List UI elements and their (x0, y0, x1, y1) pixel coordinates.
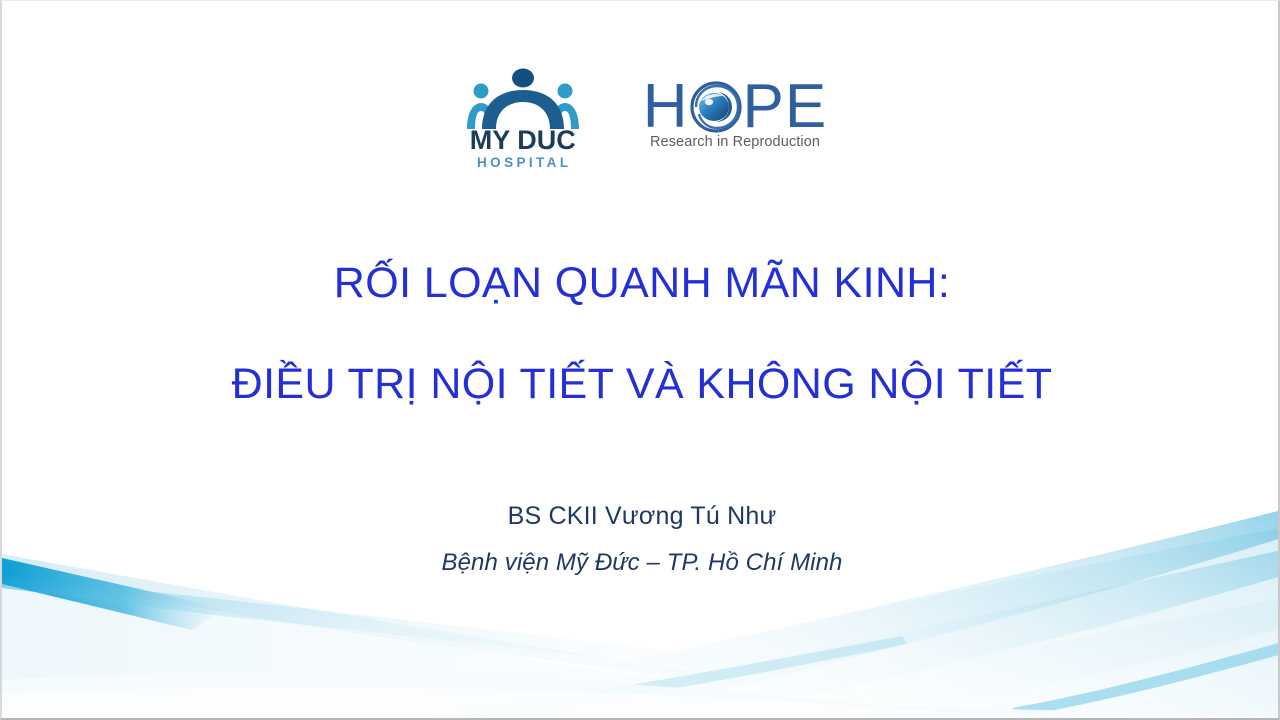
three-people-arch-icon (464, 67, 582, 129)
hope-letter-e: E (785, 82, 827, 133)
author-block: BS CKII Vương Tú Như Bệnh viện Mỹ Đức – … (2, 501, 1280, 578)
eye-swirl-icon (690, 81, 742, 133)
hope-letter-p: P (743, 82, 785, 133)
hope-wordmark: H P E (643, 81, 828, 133)
my-duc-wordmark: MY DUC (470, 127, 576, 154)
presentation-title-slide: MY DUC HOSPITAL H (0, 0, 1280, 720)
my-duc-hospital-logo: MY DUC HOSPITAL (457, 67, 589, 170)
hope-letter-h: H (643, 82, 689, 133)
hope-tagline: Research in Reproduction (650, 134, 820, 150)
logo-row: MY DUC HOSPITAL H (2, 67, 1280, 170)
bottom-wave-decoration (2, 458, 1280, 718)
author-affiliation: Bệnh viện Mỹ Đức – TP. Hồ Chí Minh (2, 549, 1280, 578)
title-line-2: ĐIỀU TRỊ NỘI TIẾT VÀ KHÔNG NỘI TIẾT (2, 360, 1280, 409)
title-line-1: RỐI LOẠN QUANH MÃN KINH: (2, 259, 1280, 308)
page-title: RỐI LOẠN QUANH MÃN KINH: ĐIỀU TRỊ NỘI TI… (2, 259, 1280, 409)
author-name: BS CKII Vương Tú Như (2, 501, 1280, 531)
my-duc-subword: HOSPITAL (477, 156, 571, 170)
hope-logo: H P E (643, 81, 828, 150)
